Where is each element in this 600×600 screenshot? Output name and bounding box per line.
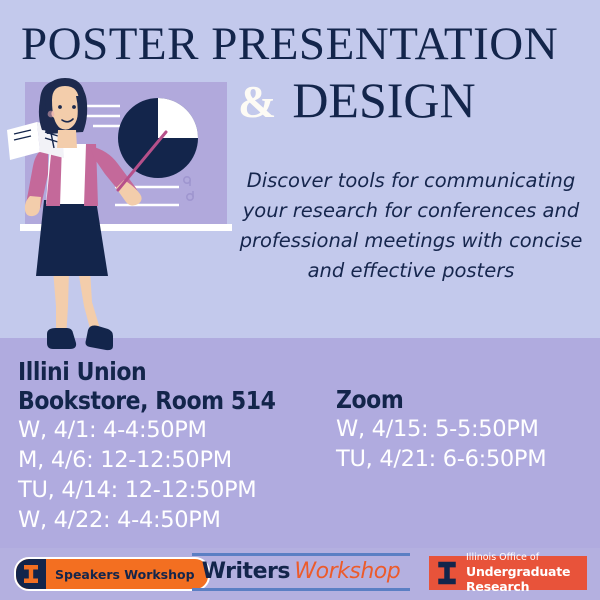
venue-name-zoom: Zoom	[336, 385, 561, 414]
session-item: M, 4/6: 12-12:50PM	[18, 445, 336, 475]
logo-writers-word2: Workshop	[294, 559, 400, 584]
presenter-head	[39, 78, 87, 134]
illinois-block-i-icon	[435, 559, 459, 587]
presenter-illustration	[0, 70, 240, 370]
shoe-left	[47, 328, 76, 349]
logo-undergraduate-research[interactable]: Illinois Office of Undergraduate Researc…	[429, 556, 587, 590]
venue-name-line2: Bookstore, Room 514	[18, 386, 298, 415]
schedule-column-zoom: Zoom W, 4/15: 5-5:50PM TU, 4/21: 6-6:50P…	[336, 385, 592, 474]
logo-writers-word1: Writers	[202, 559, 290, 584]
poster-canvas: POSTER PRESENTATION &DESIGN Discover too…	[0, 0, 600, 600]
block-i-glyph	[437, 560, 457, 586]
page-title-line1: POSTER PRESENTATION	[21, 18, 558, 70]
schedule-column-in-person: Illini Union Bookstore, Room 514 W, 4/1:…	[18, 357, 336, 535]
page-title-design: DESIGN	[292, 72, 475, 128]
presenter-neck	[57, 130, 77, 148]
session-item: TU, 4/14: 12-12:50PM	[18, 475, 336, 505]
presenter-legs	[47, 270, 113, 350]
board-pie-chart	[118, 98, 198, 178]
block-i-glyph	[23, 564, 39, 584]
logo-speakers-workshop[interactable]: Speakers Workshop	[14, 557, 210, 591]
logo-iour-line1: Illinois Office of	[466, 552, 587, 564]
ampersand-glyph: &	[238, 76, 276, 127]
logo-iour-line2: Undergraduate Research	[466, 564, 587, 594]
poster-description: Discover tools for communicating your re…	[228, 166, 594, 286]
session-item: TU, 4/21: 6-6:50PM	[336, 444, 592, 474]
page-title-line2: &DESIGN	[238, 72, 476, 130]
presenter-skirt	[36, 200, 108, 276]
logo-writers-workshop[interactable]: Writers Workshop	[192, 553, 410, 591]
logo-speakers-label: Speakers Workshop	[46, 559, 208, 589]
venue-name-line1: Illini Union	[18, 357, 298, 386]
shoe-right	[86, 326, 114, 351]
session-item: W, 4/1: 4-4:50PM	[18, 415, 336, 445]
session-item: W, 4/15: 5-5:50PM	[336, 414, 592, 444]
illinois-block-i-icon	[16, 559, 46, 589]
session-item: W, 4/22: 4-4:50PM	[18, 505, 336, 535]
